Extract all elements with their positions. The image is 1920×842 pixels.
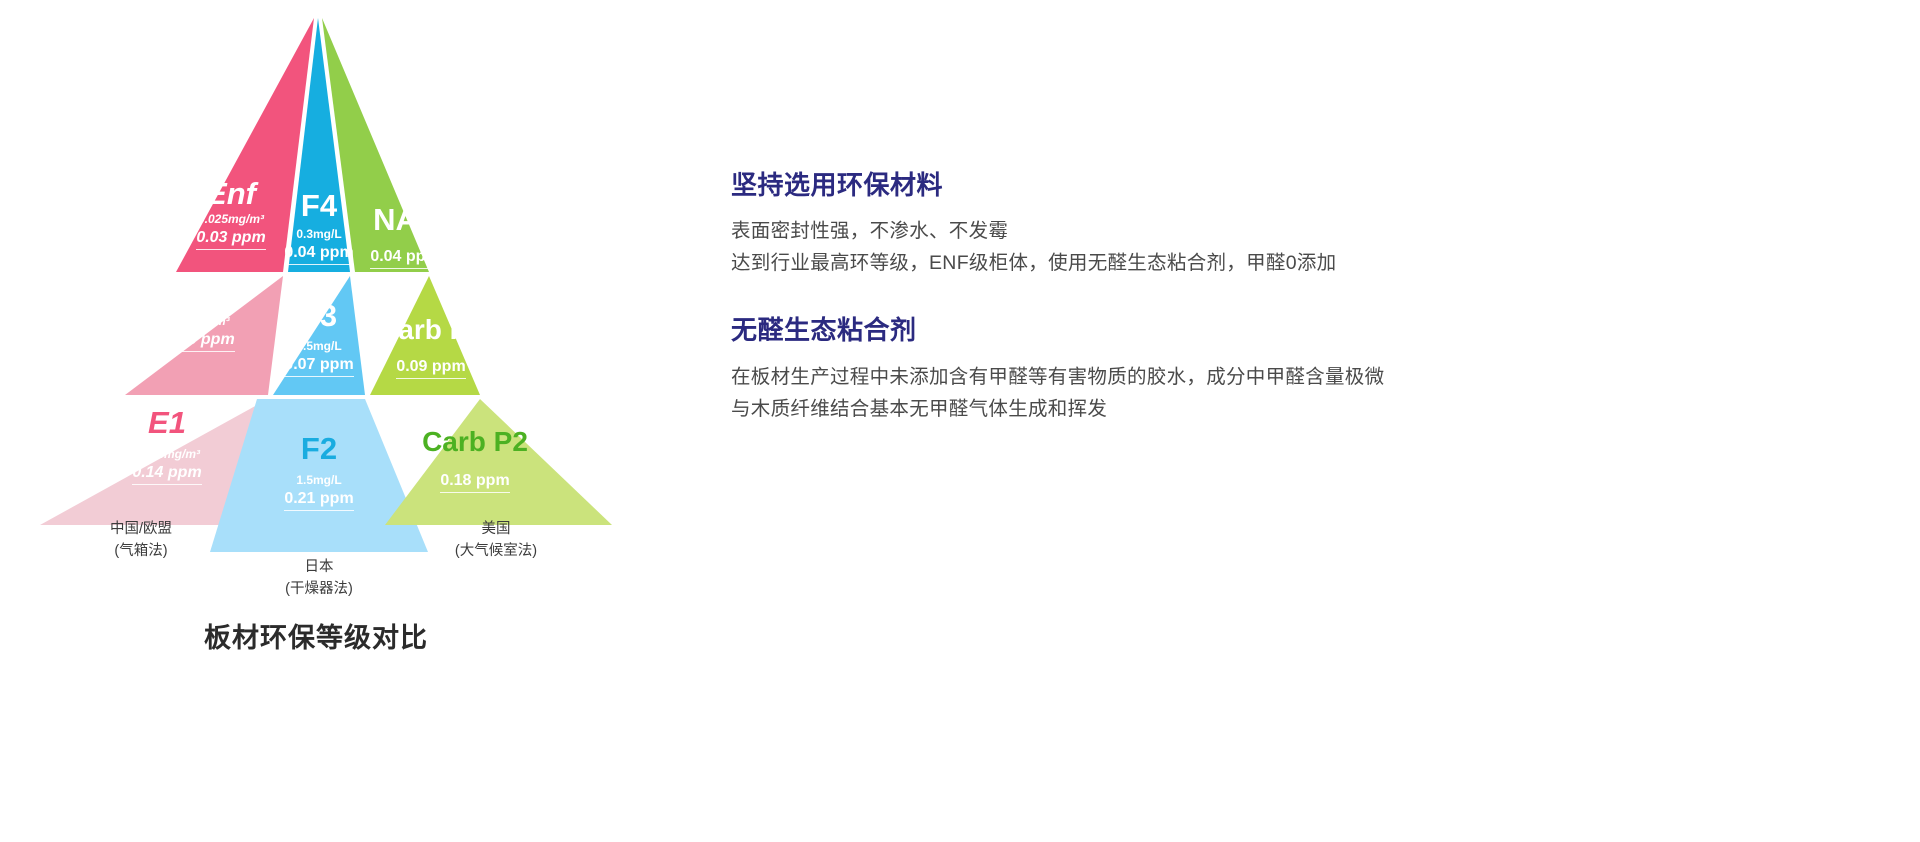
feature-line: 表面密封性强，不渗水、不发霉 [731,215,1851,247]
chart-title: 板材环保等级对比 [204,616,428,655]
caption-usa: 美国 (大气候室法) [406,518,586,563]
caption-line-1: 美国 [406,518,586,540]
feature-block-eco-adhesive: 无醛生态粘合剂 在板材生产过程中未添加含有甲醛等有害物质的胶水，成分中甲醛含量极… [731,313,1851,424]
pyramid-cell-usa-middle[interactable] [370,276,480,395]
infographic-root: Enf 0.025mg/m³ 0.03 ppm E0 0.05mg/m³ 0.0… [0,0,1920,842]
caption-line-1: 中国/欧盟 [68,518,214,540]
caption-japan: 日本 (干燥器法) [246,556,392,601]
feature-line: 在板材生产过程中未添加含有甲醛等有害物质的胶水，成分中甲醛含量极微 [731,361,1851,393]
feature-heading: 无醛生态粘合剂 [731,313,1851,348]
pyramid-cell-china-eu-middle[interactable] [125,276,283,395]
caption-china-eu: 中国/欧盟 (气箱法) [68,518,214,563]
caption-line-1: 日本 [246,556,392,578]
feature-block-eco-material: 坚持选用环保材料 表面密封性强，不渗水、不发霉 达到行业最高环等级，ENF级柜体… [731,168,1851,279]
feature-heading: 坚持选用环保材料 [731,168,1851,203]
caption-line-2: (大气候室法) [406,540,586,562]
feature-line: 与木质纤维结合基本无甲醛气体生成和挥发 [731,393,1851,425]
features-panel: 坚持选用环保材料 表面密封性强，不渗水、不发霉 达到行业最高环等级，ENF级柜体… [731,168,1851,425]
pyramid-cell-usa-bottom[interactable] [385,399,612,525]
pyramid-chart: Enf 0.025mg/m³ 0.03 ppm E0 0.05mg/m³ 0.0… [0,0,700,700]
caption-line-2: (气箱法) [68,540,214,562]
caption-line-2: (干燥器法) [246,578,392,600]
feature-line: 达到行业最高环等级，ENF级柜体，使用无醛生态粘合剂，甲醛0添加 [731,247,1851,279]
pyramid-cell-japan-middle[interactable] [273,276,365,395]
